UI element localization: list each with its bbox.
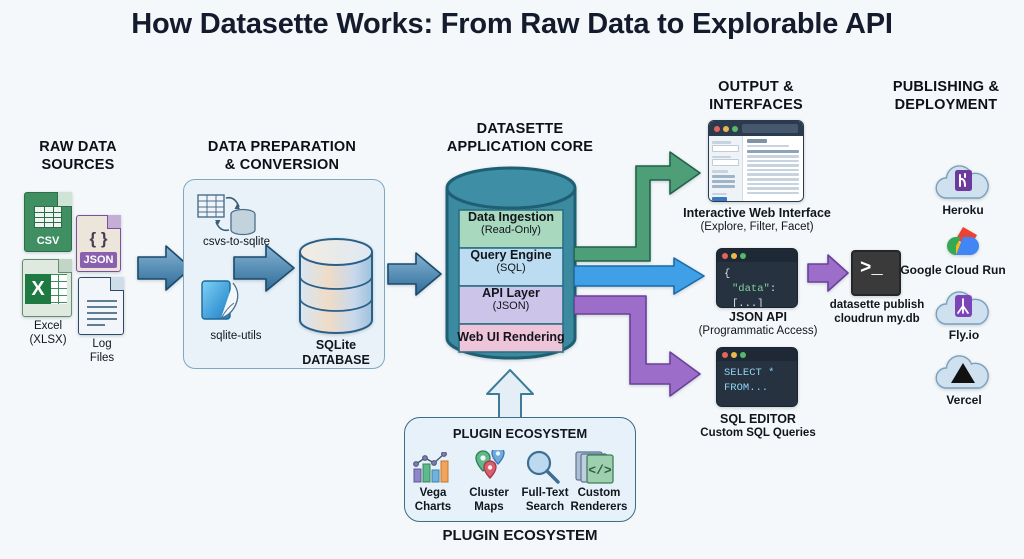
vercel-cloud-icon xyxy=(932,352,994,392)
json-key: "data" xyxy=(732,283,770,295)
maximize-icon xyxy=(740,352,746,358)
core-layer-web-ui: Web UI Rendering xyxy=(452,330,570,344)
csvs-to-sqlite-icon xyxy=(196,192,260,240)
json-label: JSON xyxy=(80,252,117,268)
close-icon xyxy=(714,126,720,132)
vega-charts-label: Vega Charts xyxy=(404,487,462,515)
flow-arrow-core-to-json-api xyxy=(574,256,710,296)
page-title: How Datasette Works: From Raw Data to Ex… xyxy=(0,8,1024,41)
plugin-ecosystem-panel-title: PLUGIN ECOSYSTEM xyxy=(404,426,636,441)
maximize-icon xyxy=(732,126,738,132)
heroku-cloud-icon xyxy=(932,162,994,202)
minimize-icon xyxy=(731,253,737,259)
flyio-cloud-icon xyxy=(932,288,994,328)
csv-file-icon: CSV xyxy=(24,192,72,252)
page-fold-icon xyxy=(57,192,72,207)
heroku-label: Heroku xyxy=(920,203,1006,217)
interactive-web-interface-mock[interactable] xyxy=(708,120,804,202)
facet-sidebar xyxy=(709,136,743,201)
browser-title-bar xyxy=(709,121,803,136)
flow-arrow-plugins-to-core xyxy=(483,368,539,420)
json-api-caption: JSON API (Programmatic Access) xyxy=(690,310,826,339)
sqlite-utils-label: sqlite-utils xyxy=(186,330,286,344)
flow-arrow-to-publish xyxy=(806,253,850,293)
page-fold-icon xyxy=(58,259,72,273)
window-title-bar xyxy=(717,348,797,361)
results-table xyxy=(743,136,803,201)
log-file-icon xyxy=(78,277,124,335)
google-cloud-run-icon xyxy=(932,224,994,264)
csv-label: CSV xyxy=(25,235,71,247)
log-files-caption: Log Files xyxy=(64,338,140,366)
custom-renderers-label: Custom Renderers xyxy=(562,487,636,515)
flyio-label: Fly.io xyxy=(922,328,1006,342)
excel-file-icon: X xyxy=(22,259,72,317)
json-file-icon: { } JSON xyxy=(76,215,121,272)
vega-charts-icon xyxy=(412,452,454,484)
svg-text:</>: </> xyxy=(588,463,612,478)
close-icon xyxy=(722,352,728,358)
sql-editor-caption: SQL EDITOR Custom SQL Queries xyxy=(690,412,826,441)
minimize-icon xyxy=(723,126,729,132)
flow-arrow-core-to-sql-editor xyxy=(574,292,714,400)
address-bar[interactable] xyxy=(742,124,798,133)
braces-icon: { } xyxy=(77,229,120,249)
custom-renderers-icon: </> xyxy=(574,450,620,484)
vercel-label: Vercel xyxy=(922,393,1006,407)
flow-arrow-tools-to-db xyxy=(232,242,298,294)
page-fold-icon xyxy=(107,215,121,229)
sqlite-database-cylinder xyxy=(297,238,375,334)
core-layer-data-ingestion: Data Ingestion (Read-Only) xyxy=(459,210,563,236)
sql-editor-mock[interactable]: SELECT * FROM... xyxy=(716,347,798,407)
close-icon xyxy=(722,253,728,259)
cluster-maps-icon xyxy=(465,450,509,484)
raw-data-heading: RAW DATA SOURCES xyxy=(8,138,148,174)
cluster-maps-label: Cluster Maps xyxy=(458,487,520,515)
data-preparation-heading: DATA PREPARATION & CONVERSION xyxy=(182,138,382,174)
core-layer-query-engine: Query Engine (SQL) xyxy=(459,248,563,274)
plugin-ecosystem-bottom-title: PLUGIN ECOSYSTEM xyxy=(404,527,636,544)
flow-arrow-prep-to-core xyxy=(386,250,444,298)
sqlite-database-label: SQLite DATABASE xyxy=(293,338,379,368)
core-layer-api: API Layer (JSON) xyxy=(459,286,563,312)
table-grid-icon xyxy=(34,206,62,228)
minimize-icon xyxy=(731,352,737,358)
sql-code-block: SELECT * FROM... xyxy=(717,361,797,401)
output-interfaces-heading: OUTPUT & INTERFACES xyxy=(680,78,832,114)
window-title-bar xyxy=(717,249,797,262)
json-api-mock[interactable]: { "data": [...] } xyxy=(716,248,798,308)
web-interface-caption: Interactive Web Interface (Explore, Filt… xyxy=(668,206,846,235)
json-code-block: { "data": [...] } xyxy=(717,262,797,308)
publish-command-caption: datasette publish cloudrun my.db xyxy=(822,299,932,327)
publishing-deployment-heading: PUBLISHING & DEPLOYMENT xyxy=(872,78,1020,114)
google-cloud-run-label: Google Cloud Run xyxy=(882,263,1024,277)
page-fold-icon xyxy=(110,277,124,291)
maximize-icon xyxy=(740,253,746,259)
full-text-search-icon xyxy=(520,450,564,484)
excel-x-label: X xyxy=(25,274,51,304)
